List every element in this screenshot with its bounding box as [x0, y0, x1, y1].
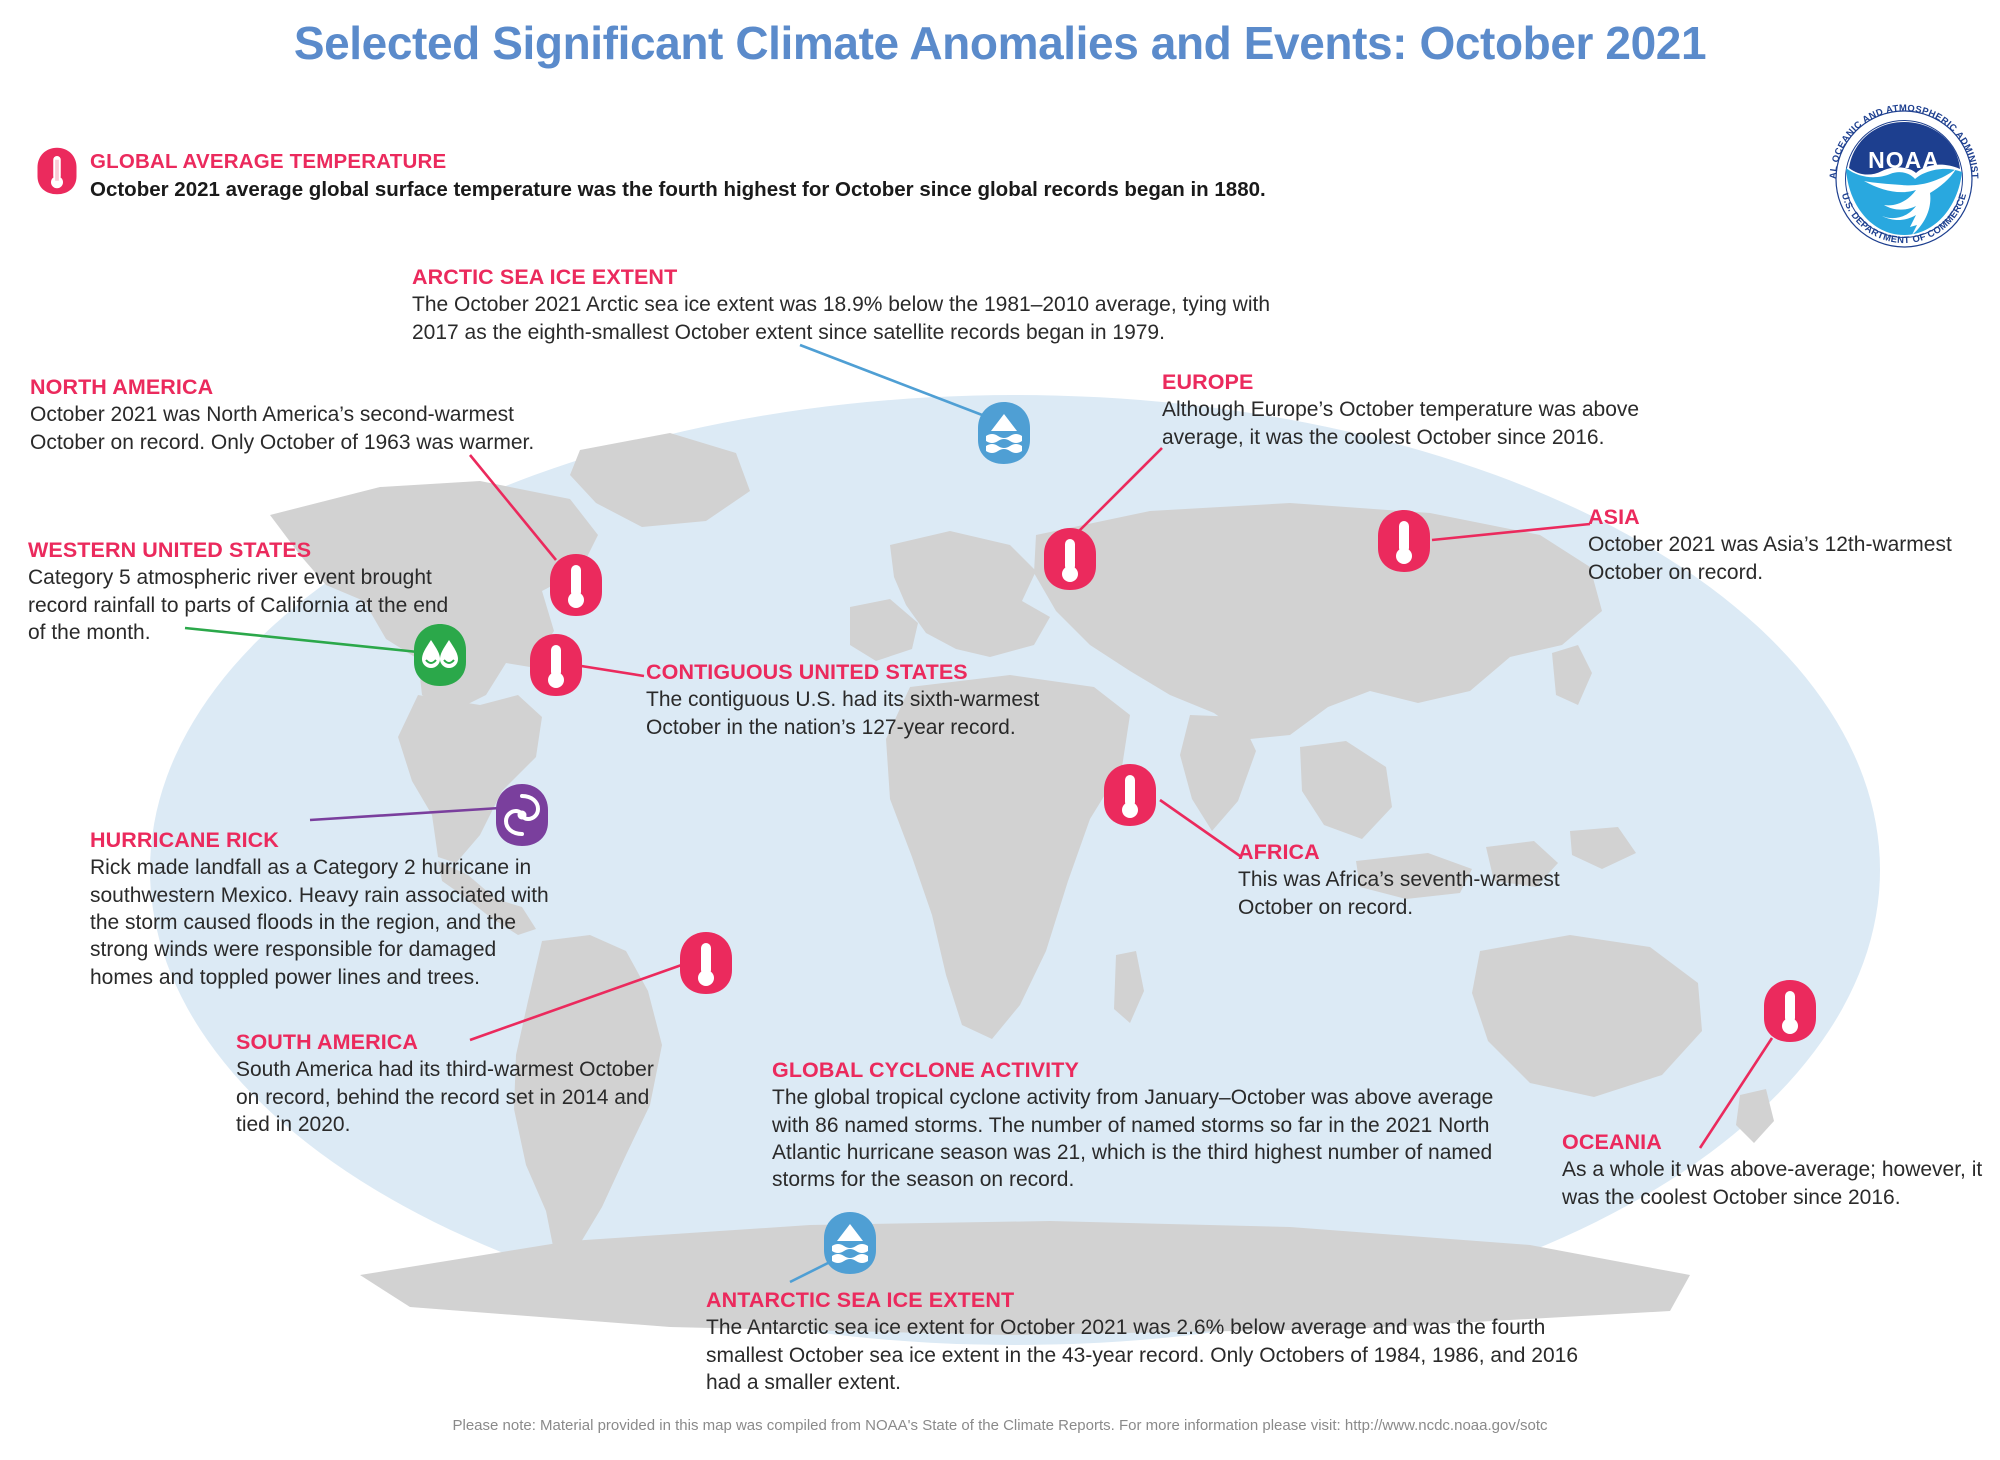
contiguous-united-states-body: The contiguous U.S. had its sixth-warmes…	[646, 686, 1046, 741]
sea-ice-icon	[822, 1210, 878, 1276]
thermometer-icon	[678, 930, 734, 996]
event-block-global-cyclone-activity: GLOBAL CYCLONE ACTIVITY The global tropi…	[772, 1058, 1532, 1194]
thermometer-icon	[528, 632, 584, 698]
hurricane-rick-body: Rick made landfall as a Category 2 hurri…	[90, 854, 560, 990]
arctic-sea-ice-extent-heading: ARCTIC SEA ICE EXTENT	[412, 265, 1312, 290]
thermometer-icon	[1042, 526, 1098, 592]
pin-africa[interactable]	[1102, 762, 1158, 828]
north-america-body: October 2021 was North America’s second-…	[30, 401, 550, 456]
arctic-sea-ice-extent-body: The October 2021 Arctic sea ice extent w…	[412, 291, 1272, 346]
global-average-temperature-heading: GLOBAL AVERAGE TEMPERATURE	[90, 150, 1490, 174]
thermometer-icon	[1376, 508, 1432, 574]
contiguous-united-states-heading: CONTIGUOUS UNITED STATES	[646, 660, 1106, 685]
event-block-antarctic-sea-ice-extent: ANTARCTIC SEA ICE EXTENT The Antarctic s…	[706, 1288, 1606, 1396]
global-cyclone-activity-heading: GLOBAL CYCLONE ACTIVITY	[772, 1058, 1532, 1083]
africa-body: This was Africa’s seventh-warmest Octobe…	[1238, 866, 1578, 921]
event-block-contiguous-united-states: CONTIGUOUS UNITED STATES The contiguous …	[646, 660, 1106, 741]
oceania-body: As a whole it was above-average; however…	[1562, 1156, 1987, 1211]
western-united-states-body: Category 5 atmospheric river event broug…	[28, 564, 458, 646]
thermometer-icon	[548, 552, 604, 618]
pin-asia[interactable]	[1376, 508, 1432, 574]
event-block-asia: ASIA October 2021 was Asia’s 12th-warmes…	[1588, 505, 1988, 586]
page-title: Selected Significant Climate Anomalies a…	[0, 16, 2000, 70]
asia-heading: ASIA	[1588, 505, 1988, 530]
global-average-temperature-block: GLOBAL AVERAGE TEMPERATURE October 2021 …	[90, 150, 1490, 202]
europe-heading: EUROPE	[1162, 370, 1682, 395]
global-average-temperature-body: October 2021 average global surface temp…	[90, 178, 1490, 202]
global-cyclone-activity-body: The global tropical cyclone activity fro…	[772, 1084, 1512, 1193]
svg-text:NOAA: NOAA	[1868, 147, 1940, 173]
sea-ice-icon	[976, 400, 1032, 466]
pin-oceania[interactable]	[1762, 978, 1818, 1044]
footer-note: Please note: Material provided in this m…	[0, 1417, 2000, 1434]
western-united-states-heading: WESTERN UNITED STATES	[28, 538, 498, 563]
pin-contiguous-united-states[interactable]	[528, 632, 584, 698]
thermometer-icon	[1102, 762, 1158, 828]
event-block-north-america: NORTH AMERICA October 2021 was North Ame…	[30, 375, 590, 456]
asia-body: October 2021 was Asia’s 12th-warmest Oct…	[1588, 531, 1958, 586]
hurricane-rick-heading: HURRICANE RICK	[90, 828, 590, 853]
global-average-temperature-icon-wrap	[36, 145, 78, 202]
noaa-logo: NOAA NATIONAL OCEANIC AND ATMOSPHERIC AD…	[1820, 95, 1988, 263]
event-block-oceania: OCEANIA As a whole it was above-average;…	[1562, 1130, 2000, 1211]
event-block-south-america: SOUTH AMERICA South America had its thir…	[236, 1030, 686, 1138]
noaa-logo-mark: NOAA NATIONAL OCEANIC AND ATMOSPHERIC AD…	[1820, 95, 1988, 263]
event-block-europe: EUROPE Although Europe’s October tempera…	[1162, 370, 1682, 451]
pin-north-america[interactable]	[548, 552, 604, 618]
infographic-root: Selected Significant Climate Anomalies a…	[0, 0, 2000, 1460]
north-america-heading: NORTH AMERICA	[30, 375, 590, 400]
south-america-body: South America had its third-warmest Octo…	[236, 1056, 676, 1138]
oceania-heading: OCEANIA	[1562, 1130, 2000, 1155]
thermometer-icon	[36, 145, 78, 197]
europe-body: Although Europe’s October temperature wa…	[1162, 396, 1662, 451]
antarctic-sea-ice-extent-heading: ANTARCTIC SEA ICE EXTENT	[706, 1288, 1606, 1313]
pin-arctic-sea-ice-extent[interactable]	[976, 400, 1032, 466]
pin-antarctic-sea-ice-extent[interactable]	[822, 1210, 878, 1276]
event-block-western-united-states: WESTERN UNITED STATES Category 5 atmosph…	[28, 538, 498, 646]
africa-heading: AFRICA	[1238, 840, 1658, 865]
event-block-hurricane-rick: HURRICANE RICK Rick made landfall as a C…	[90, 828, 590, 991]
antarctic-sea-ice-extent-body: The Antarctic sea ice extent for October…	[706, 1314, 1586, 1396]
thermometer-icon	[1762, 978, 1818, 1044]
south-america-heading: SOUTH AMERICA	[236, 1030, 686, 1055]
event-block-arctic-sea-ice-extent: ARCTIC SEA ICE EXTENT The October 2021 A…	[412, 265, 1312, 346]
event-block-africa: AFRICA This was Africa’s seventh-warmest…	[1238, 840, 1658, 921]
pin-europe[interactable]	[1042, 526, 1098, 592]
pin-south-america[interactable]	[678, 930, 734, 996]
